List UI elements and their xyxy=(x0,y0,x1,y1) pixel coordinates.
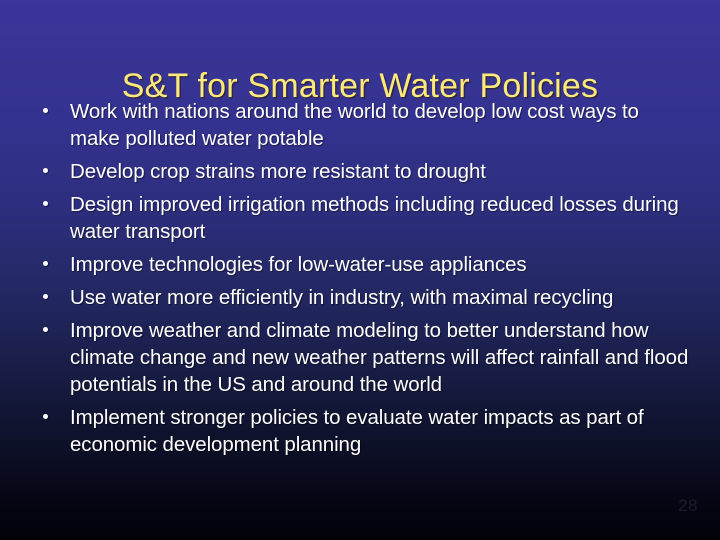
list-item: Improve technologies for low-water-use a… xyxy=(34,251,694,278)
list-item-text: Improve weather and climate modeling to … xyxy=(70,317,694,398)
list-item: Work with nations around the world to de… xyxy=(34,98,694,152)
list-item-text: Develop crop strains more resistant to d… xyxy=(70,158,694,185)
bullet-dot-icon xyxy=(43,108,48,113)
list-item-text: Use water more efficiently in industry, … xyxy=(70,284,694,311)
bullet-dot-icon xyxy=(43,294,48,299)
bullet-dot-icon xyxy=(43,261,48,266)
list-item-text: Improve technologies for low-water-use a… xyxy=(70,251,694,278)
list-item: Design improved irrigation methods inclu… xyxy=(34,191,694,245)
bullet-dot-icon xyxy=(43,327,48,332)
presentation-slide: S&T for Smarter Water Policies Work with… xyxy=(0,0,720,540)
list-item: Improve weather and climate modeling to … xyxy=(34,317,694,398)
list-item: Implement stronger policies to evaluate … xyxy=(34,404,694,458)
bullet-dot-icon xyxy=(43,414,48,419)
list-item-text: Work with nations around the world to de… xyxy=(70,98,694,152)
page-number: 28 xyxy=(678,496,698,516)
list-item-text: Implement stronger policies to evaluate … xyxy=(70,404,694,458)
list-item: Use water more efficiently in industry, … xyxy=(34,284,694,311)
bullet-list: Work with nations around the world to de… xyxy=(34,98,694,458)
bullet-dot-icon xyxy=(43,201,48,206)
list-item: Develop crop strains more resistant to d… xyxy=(34,158,694,185)
list-item-text: Design improved irrigation methods inclu… xyxy=(70,191,694,245)
bullet-dot-icon xyxy=(43,168,48,173)
